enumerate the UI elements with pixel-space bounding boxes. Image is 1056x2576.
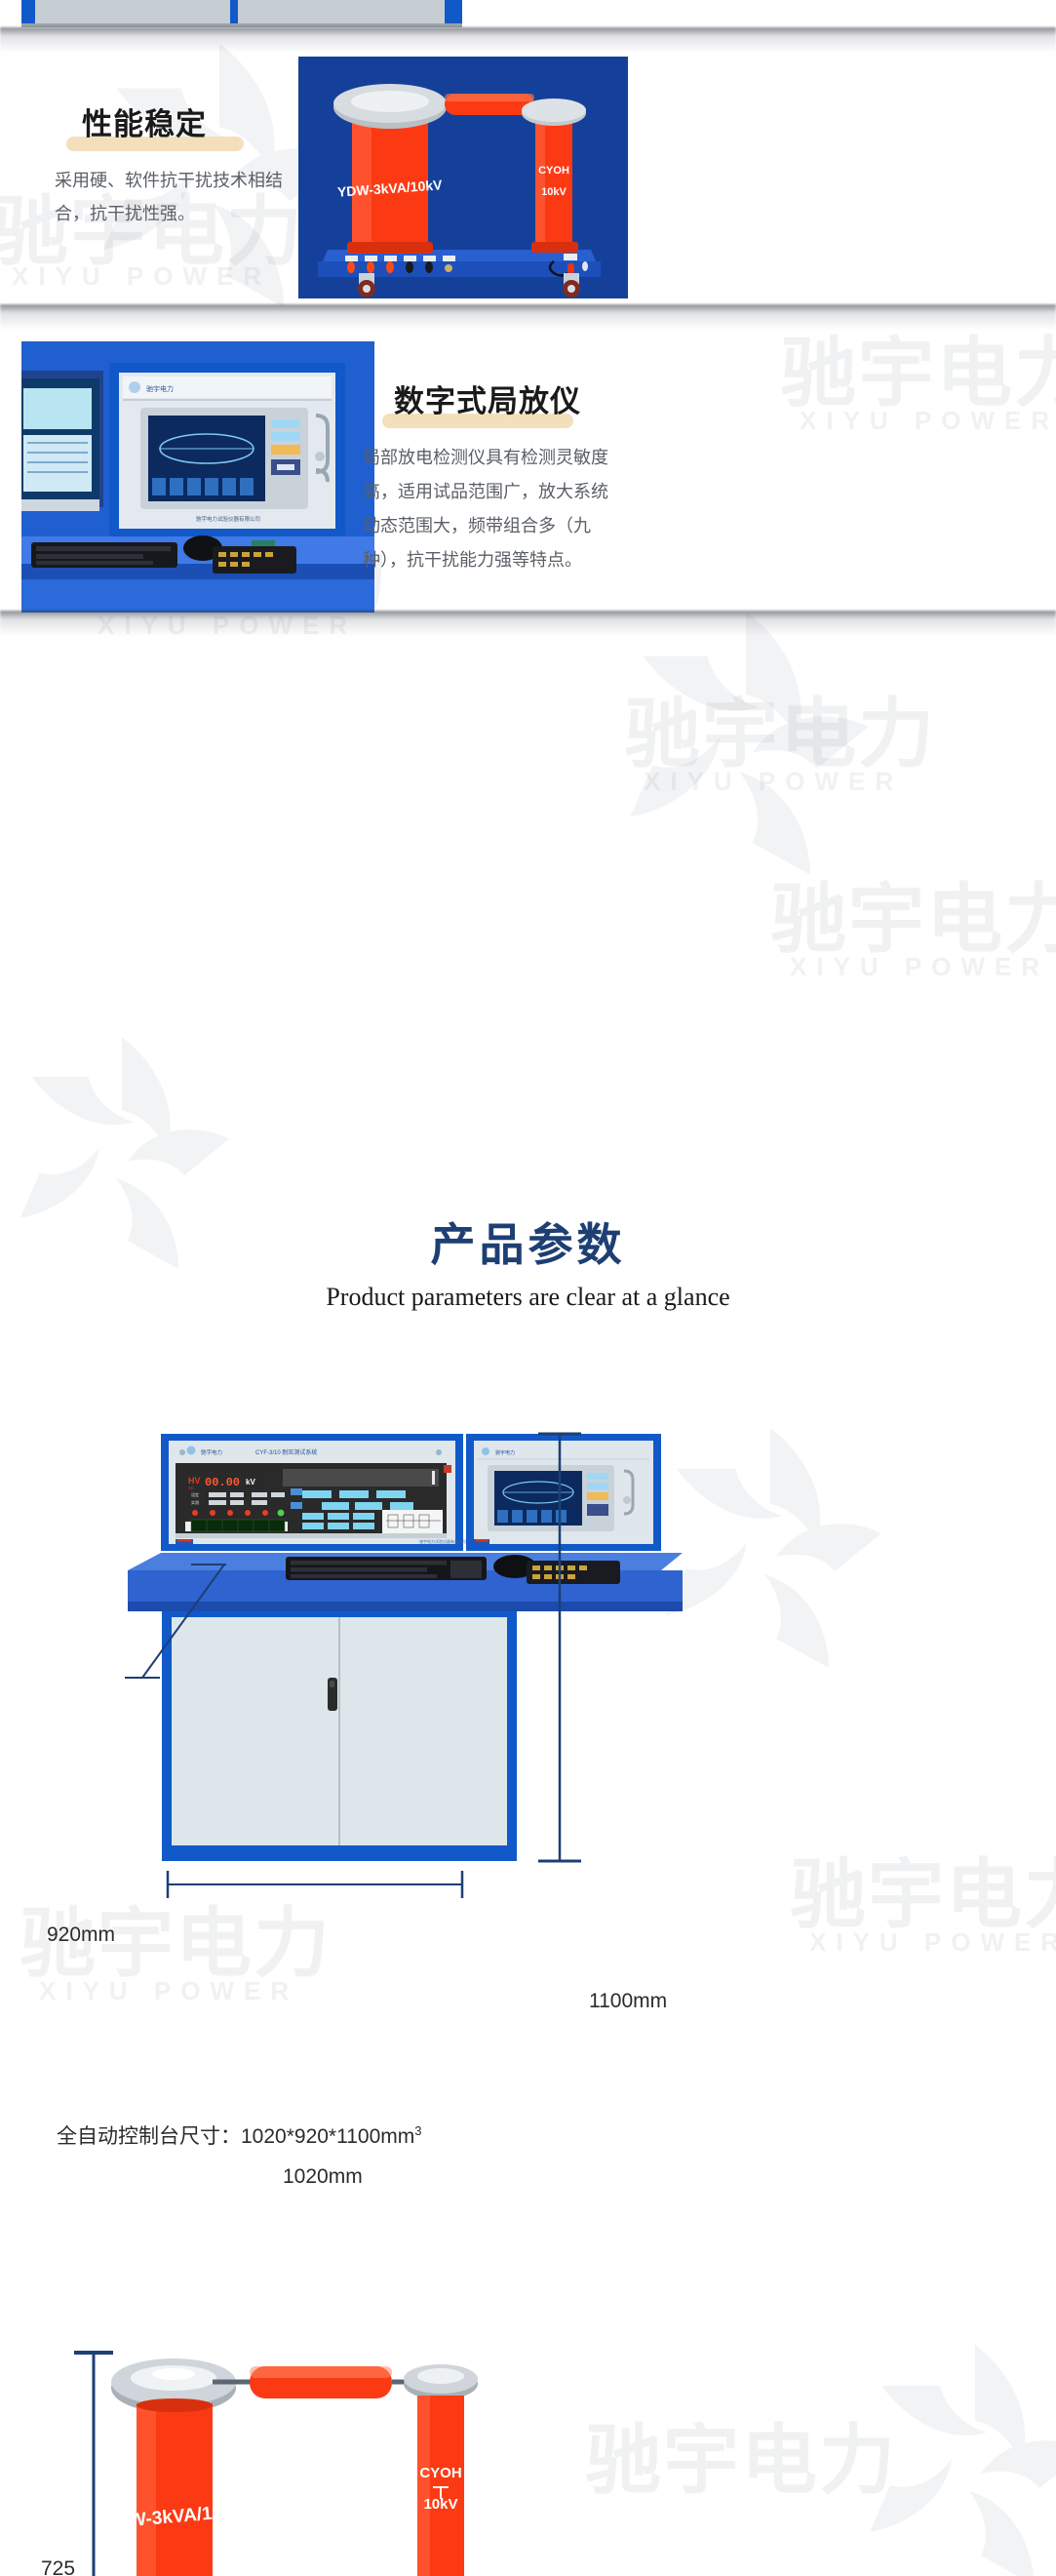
watermark-brand-en: XIYU POWER — [800, 406, 1056, 436]
page-title: 产品参数 — [0, 1209, 1056, 1274]
console-company-footer: 驰宇电力试验仪器有限公司 — [419, 1538, 466, 1544]
caption-exponent: 3 — [414, 2123, 421, 2138]
svg-text:10kV: 10kV — [541, 186, 567, 198]
svg-text:设定: 设定 — [191, 1491, 199, 1497]
watermark-brand-en: XIYU POWER — [12, 261, 271, 292]
bottom-transformer-diagram: YDW-3kVA/10kV CYOH 10kV — [0, 2331, 1056, 2576]
instrument-company-footer: 驰宇电力试验仪器有限公司 — [196, 515, 260, 523]
page-subtitle: Product parameters are clear at a glance — [0, 1283, 1056, 1312]
svg-text:驰宇电力: 驰宇电力 — [495, 1449, 515, 1456]
caption-prefix: 全自动控制台尺寸： — [57, 2125, 241, 2148]
console-hv-readout: 00.00 — [205, 1476, 240, 1489]
section1-body-text: 采用硬、软件抗干扰技术相结合，抗干扰性强。 — [55, 164, 298, 230]
section1-title: 性能稳定 — [82, 99, 207, 143]
section-divider-shadow — [0, 611, 1056, 636]
console-panel-left-title: CYF-3/10 耐压测试系统 — [255, 1448, 317, 1456]
height-dimension-label: 1100mm — [589, 1990, 667, 2013]
console-dimension-diagram: 驰宇电力 CYF-3/10 耐压测试系统 HV AC 00.00 kV — [0, 1385, 1056, 2224]
product-detail-page: 驰宇电力 XIYU POWER 驰宇电力 XIYU POWER 驰宇电力 XIY… — [0, 0, 1056, 2576]
previous-console-photo-remnant — [21, 0, 462, 27]
bottom-divider-model-label-line1: CYOH — [419, 2465, 461, 2481]
caption-value: 1020*920*1100mm — [241, 2125, 414, 2148]
section1-product-photo: YDW-3kVA/10kV CYOH 10kV — [298, 57, 628, 298]
section-divider-shadow — [0, 304, 1056, 330]
width-dimension-label: 1020mm — [283, 2165, 363, 2189]
section2-body-text: 局部放电检测仪具有检测灵敏度高，适用试品范围广，放大系统动态范围大，频带组合多（… — [363, 441, 608, 577]
watermark-brand-en: XIYU POWER — [644, 767, 903, 797]
watermark-brand-cn: 驰宇电力 — [624, 673, 936, 782]
depth-dimension-label: 920mm — [47, 1923, 115, 1947]
svg-text:AC: AC — [188, 1486, 195, 1490]
watermark-brand-cn: 驰宇电力 — [770, 858, 1056, 968]
section2-title: 数字式局放仪 — [394, 376, 581, 420]
section2-product-photo: 驰宇电力 — [21, 341, 374, 613]
watermark-brand-en: XIYU POWER — [790, 952, 1049, 982]
svg-text:kV: kV — [246, 1478, 255, 1486]
divider-model-label: CYOH — [538, 165, 569, 177]
svg-text:实测: 实测 — [191, 1499, 199, 1505]
section-divider-shadow — [0, 27, 1056, 53]
bottom-dimension-label: 725 — [41, 2557, 75, 2576]
svg-text:HV: HV — [188, 1476, 201, 1486]
console-size-caption: 全自动控制台尺寸：1020*920*1100mm3 — [57, 2120, 421, 2150]
svg-text:驰宇电力: 驰宇电力 — [201, 1448, 222, 1456]
instrument-brand-text: 驰宇电力 — [146, 384, 174, 393]
